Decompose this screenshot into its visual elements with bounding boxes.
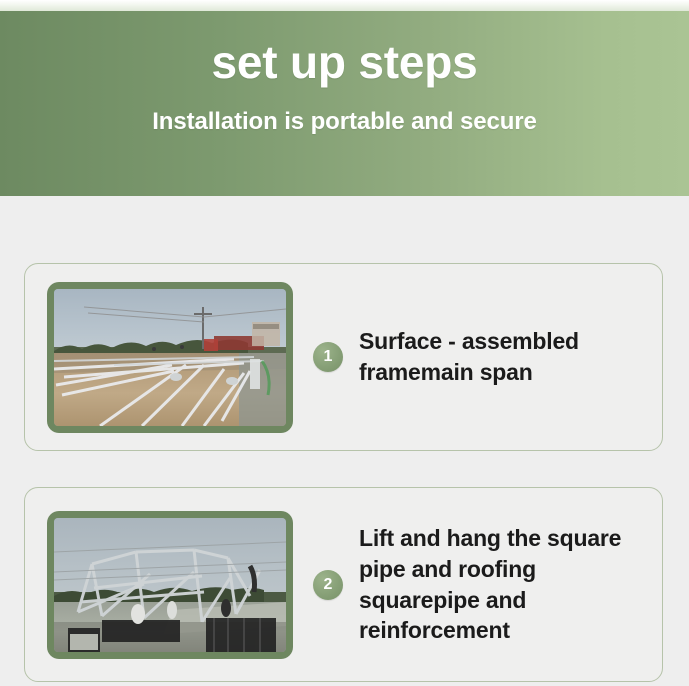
top-accent-strip bbox=[0, 0, 689, 11]
header-banner: set up steps Installation is portable an… bbox=[0, 11, 689, 196]
step-2-photo bbox=[54, 518, 286, 652]
step-1-photo bbox=[54, 289, 286, 426]
step-1-description: Surface - assembled framemain span bbox=[359, 326, 650, 387]
page-title: set up steps bbox=[0, 11, 689, 86]
step-2-number-badge: 2 bbox=[313, 570, 343, 600]
step-1-photo-frame bbox=[47, 282, 293, 433]
step-2-photo-frame bbox=[47, 511, 293, 659]
step-card-2[interactable]: 2 Lift and hang the square pipe and roof… bbox=[24, 487, 663, 682]
step-card-1[interactable]: 1 Surface - assembled framemain span bbox=[24, 263, 663, 451]
page-subtitle: Installation is portable and secure bbox=[0, 86, 689, 136]
step-2-description: Lift and hang the square pipe and roofin… bbox=[359, 523, 650, 645]
step-1-number-badge: 1 bbox=[313, 342, 343, 372]
